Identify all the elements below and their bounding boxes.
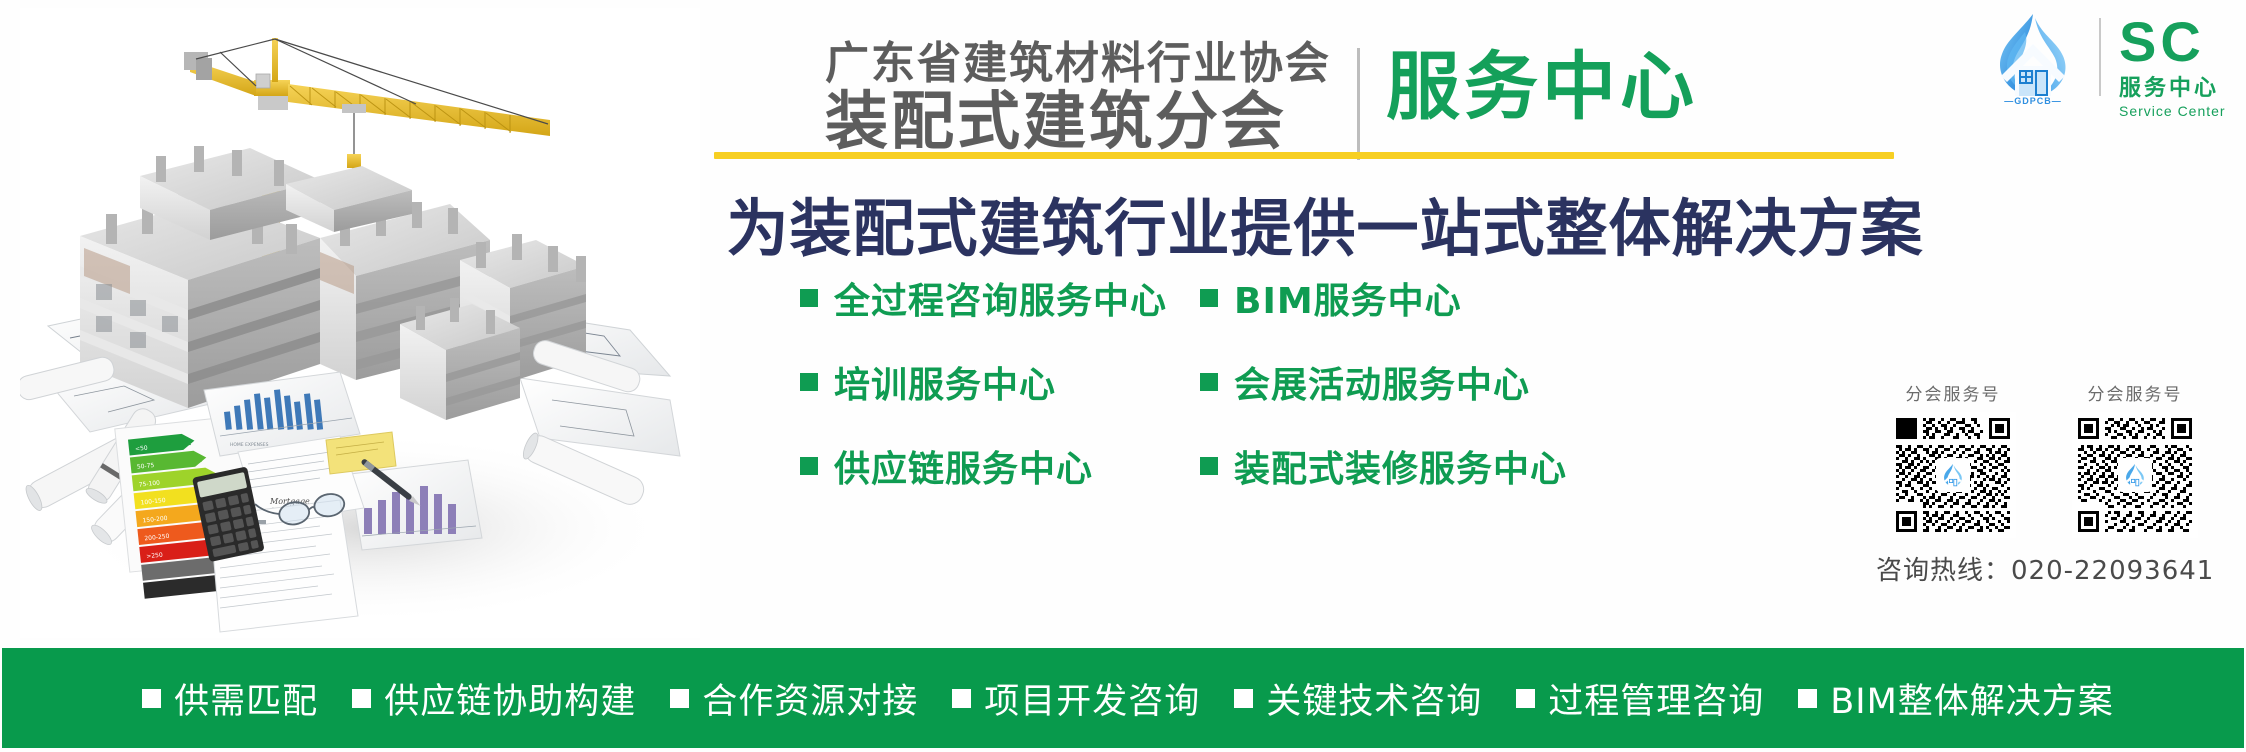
square-bullet-icon <box>670 689 689 708</box>
header-block: 广东省建筑材料行业协会 装配式建筑分会 服务中心 <box>825 42 1698 160</box>
square-bullet-icon <box>1200 373 1218 391</box>
list-item[interactable]: 供应链服务中心 <box>800 440 1167 492</box>
list-item[interactable]: 供应链协助构建 <box>352 673 636 724</box>
banner-content: 广东省建筑材料行业协会 装配式建筑分会 服务中心 为装配式建筑行业提供一站式整体… <box>700 0 2246 648</box>
qr-center-logo-icon <box>2118 458 2152 492</box>
service-center-title: 服务中心 <box>1386 42 1698 132</box>
service-column-right: BIM服务中心 会展活动服务中心 装配式装修服务中心 <box>1200 272 1567 524</box>
service-label: 培训服务中心 <box>834 356 1056 408</box>
qr-caption: 分会服务号 <box>2060 380 2210 405</box>
list-item[interactable]: 过程管理咨询 <box>1516 673 1764 724</box>
svg-text:HOME EXPENSES: HOME EXPENSES <box>230 442 269 448</box>
footer-label: 供应链协助构建 <box>384 673 636 724</box>
purple-bar-chart-icon <box>350 460 482 550</box>
service-label: 装配式装修服务中心 <box>1234 440 1567 492</box>
svg-text:B: B <box>196 455 203 465</box>
footer-label: 过程管理咨询 <box>1548 673 1764 724</box>
service-column-left: 全过程咨询服务中心 培训服务中心 供应链服务中心 <box>800 272 1167 524</box>
list-item[interactable]: 装配式装修服务中心 <box>1200 440 1567 492</box>
list-item[interactable]: BIM服务中心 <box>1200 272 1567 324</box>
list-item[interactable]: 项目开发咨询 <box>952 673 1200 724</box>
org-names: 广东省建筑材料行业协会 装配式建筑分会 <box>825 42 1331 153</box>
qr-cell: 分会服务号 <box>1878 380 2028 538</box>
qr-row: 分会服务号 <box>1870 380 2246 538</box>
service-label: 供应链服务中心 <box>834 440 1093 492</box>
list-item[interactable]: 关键技术咨询 <box>1234 673 1482 724</box>
logo-name-en: Service Center <box>2119 103 2226 119</box>
service-label: BIM服务中心 <box>1234 272 1462 324</box>
square-bullet-icon <box>800 457 818 475</box>
association-name: 广东省建筑材料行业协会 <box>825 42 1331 86</box>
blue-flame-house-icon: —GDPCB— <box>1985 10 2081 114</box>
logo-divider <box>2099 18 2101 96</box>
footer-label: 合作资源对接 <box>702 673 918 724</box>
square-bullet-icon <box>1798 689 1817 708</box>
footer-label: BIM整体解决方案 <box>1830 673 2114 724</box>
square-bullet-icon <box>800 373 818 391</box>
logo-gdpcb-caption: —GDPCB— <box>1985 96 2081 106</box>
list-item[interactable]: 培训服务中心 <box>800 356 1167 408</box>
footer-label: 项目开发咨询 <box>984 673 1200 724</box>
footer-label: 关键技术咨询 <box>1266 673 1482 724</box>
brand-logo: —GDPCB— SC 服务中心 Service Center <box>1985 10 2226 119</box>
list-item[interactable]: BIM整体解决方案 <box>1798 673 2114 724</box>
list-item[interactable]: 供需匹配 <box>142 673 318 724</box>
square-bullet-icon <box>800 289 818 307</box>
svg-text:<50: <50 <box>135 445 149 453</box>
hotline-text: 咨询热线：020-22093641 <box>1870 550 2246 587</box>
footer-item-list: 供需匹配 供应链协助构建 合作资源对接 项目开发咨询 关键技术咨询 过程管理咨询 <box>132 673 2114 724</box>
square-bullet-icon <box>1234 689 1253 708</box>
construction-site-3d-render: A B C D E F G <5050-7575-100 100-150150-… <box>20 8 700 638</box>
list-item[interactable]: 全过程咨询服务中心 <box>800 272 1167 324</box>
main-tagline: 为装配式建筑行业提供一站式整体解决方案 <box>710 178 1940 268</box>
service-label: 全过程咨询服务中心 <box>834 272 1167 324</box>
square-bullet-icon <box>352 689 371 708</box>
footer-bar: 供需匹配 供应链协助构建 合作资源对接 项目开发咨询 关键技术咨询 过程管理咨询 <box>2 648 2244 748</box>
branch-name: 装配式建筑分会 <box>825 90 1331 153</box>
qr-cell: 分会服务号 <box>2060 380 2210 538</box>
qr-code-image[interactable] <box>1890 412 2016 538</box>
qr-section: 分会服务号 <box>1870 380 2246 587</box>
qr-code-image[interactable] <box>2072 412 2198 538</box>
logo-wordmark: SC 服务中心 Service Center <box>2119 10 2226 119</box>
square-bullet-icon <box>1200 457 1218 475</box>
square-bullet-icon <box>1516 689 1535 708</box>
qr-center-logo-icon <box>1936 458 1970 492</box>
logo-abbrev: SC <box>2119 16 2226 68</box>
header-divider <box>1357 48 1360 160</box>
qr-caption: 分会服务号 <box>1878 380 2028 405</box>
footer-label: 供需匹配 <box>174 673 318 724</box>
gold-divider <box>714 152 1894 159</box>
square-bullet-icon <box>1200 289 1218 307</box>
promotional-banner: A B C D E F G <5050-7575-100 100-150150-… <box>0 0 2246 752</box>
list-item[interactable]: 合作资源对接 <box>670 673 918 724</box>
square-bullet-icon <box>952 689 971 708</box>
list-item[interactable]: 会展活动服务中心 <box>1200 356 1567 408</box>
logo-name-cn: 服务中心 <box>2119 70 2226 102</box>
service-label: 会展活动服务中心 <box>1234 356 1530 408</box>
sticky-note-icon <box>326 432 396 474</box>
square-bullet-icon <box>142 689 161 708</box>
